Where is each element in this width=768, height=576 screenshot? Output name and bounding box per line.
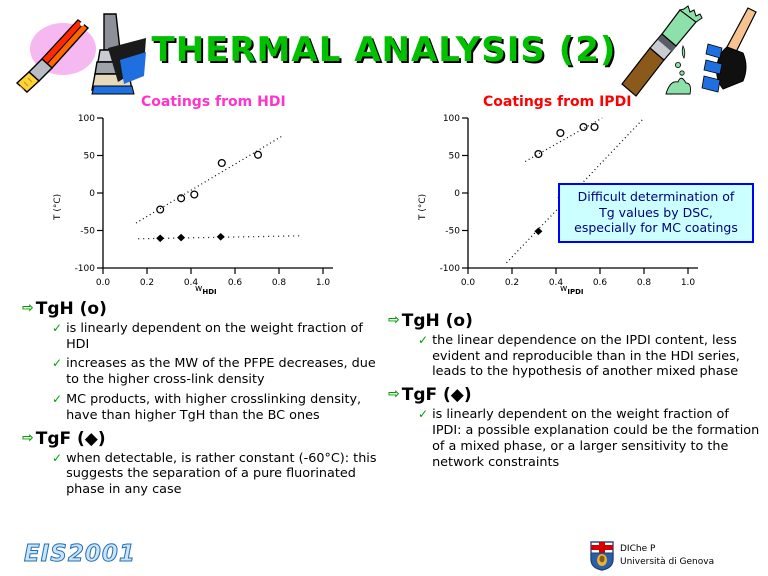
svg-text:50: 50 (449, 152, 461, 162)
check-icon: ✓ (52, 392, 62, 407)
svg-text:1.0: 1.0 (316, 278, 331, 288)
bullet-item: ✓ when detectable, is rather constant (-… (52, 451, 382, 499)
chart-ipdi-ylabel: T (°C) (418, 194, 428, 220)
bullet-heading-label: TgF (◆) (36, 430, 106, 449)
bullet-item-text: increases as the MW of the PFPE decrease… (66, 356, 382, 388)
paintbrushes-dripping-icon (620, 2, 768, 102)
check-icon: ✓ (52, 451, 62, 466)
svg-text:0.2: 0.2 (140, 278, 154, 288)
chart-hdi-xlabel-sub: HDI (202, 288, 216, 296)
institution-line-2: Università di Genova (620, 556, 714, 569)
svg-text:0.6: 0.6 (593, 278, 608, 288)
bullet-item: ✓ MC products, with higher crosslinking … (52, 392, 382, 424)
bullet-item-text: the linear dependence on the IPDI conten… (432, 333, 760, 381)
svg-text:0.0: 0.0 (461, 278, 476, 288)
bullet-heading-label: TgF (◆) (402, 386, 472, 405)
chart-hdi-ylabel: T (°C) (53, 194, 63, 220)
bullet-item-text: is linearly dependent on the weight frac… (66, 321, 382, 353)
university-crest-icon (589, 541, 615, 571)
bullet-item: ✓ increases as the MW of the PFPE decrea… (52, 356, 382, 388)
bullet-heading-tgf-left: ⇨ TgF (◆) (22, 430, 382, 449)
svg-text:100: 100 (78, 114, 95, 124)
bullet-item-text: when detectable, is rather constant (-60… (66, 451, 382, 499)
callout-box: Difficult determination of Tg values by … (558, 183, 754, 243)
chart-ipdi-xlabel: wIPDI (560, 284, 584, 296)
svg-text:0.8: 0.8 (272, 278, 287, 288)
svg-text:-100: -100 (440, 264, 461, 274)
callout-line-1: Difficult determination of (565, 189, 747, 205)
bullet-heading-label: TgH (o) (402, 312, 473, 331)
svg-text:-100: -100 (75, 264, 96, 274)
slide-canvas: THERMAL ANALYSIS (2) Coatings from HDI C… (0, 0, 768, 576)
bullet-item-text: MC products, with higher crosslinking de… (66, 392, 382, 424)
svg-text:0: 0 (454, 189, 460, 199)
svg-text:0: 0 (89, 189, 95, 199)
svg-text:1.0: 1.0 (681, 278, 696, 288)
bullet-item: ✓ the linear dependence on the IPDI cont… (418, 333, 760, 381)
bullet-column-left: ⇨ TgH (o) ✓ is linearly dependent on the… (22, 300, 382, 502)
conference-logo: EIS2001 (24, 541, 136, 567)
svg-text:0.0: 0.0 (96, 278, 111, 288)
chart-ipdi-xlabel-sub: IPDI (567, 288, 583, 296)
chart-hdi: 100 50 0 -50 -100 0.0 0.2 0.4 0.6 0.8 (55, 108, 355, 298)
callout-line-3: especially for MC coatings (565, 220, 747, 236)
arrow-icon: ⇨ (22, 430, 34, 448)
bullet-column-right: ⇨ TgH (o) ✓ the linear dependence on the… (388, 312, 760, 474)
chart-hdi-plot: 100 50 0 -50 -100 0.0 0.2 0.4 0.6 0.8 (55, 108, 355, 298)
svg-text:0.8: 0.8 (637, 278, 652, 288)
check-icon: ✓ (52, 321, 62, 336)
institution-line-1: DIChe P (620, 543, 714, 556)
arrow-icon: ⇨ (388, 312, 400, 330)
bullet-item: ✓ is linearly dependent on the weight fr… (418, 407, 760, 470)
arrow-icon: ⇨ (22, 300, 34, 318)
institution-credit: DIChe P Università di Genova (620, 543, 714, 569)
bullet-heading-tgf-right: ⇨ TgF (◆) (388, 386, 760, 405)
bullet-heading-tgh-left: ⇨ TgH (o) (22, 300, 382, 319)
check-icon: ✓ (52, 356, 62, 371)
bullet-heading-tgh-right: ⇨ TgH (o) (388, 312, 760, 331)
svg-text:0.6: 0.6 (228, 278, 243, 288)
arrow-icon: ⇨ (388, 386, 400, 404)
bullet-item-text: is linearly dependent on the weight frac… (432, 407, 760, 470)
check-icon: ✓ (418, 407, 428, 422)
svg-text:50: 50 (84, 152, 96, 162)
check-icon: ✓ (418, 333, 428, 348)
chart-hdi-xlabel: wHDI (195, 284, 217, 296)
callout-line-2: Tg values by DSC, (565, 205, 747, 221)
svg-text:100: 100 (443, 114, 460, 124)
svg-text:0.2: 0.2 (505, 278, 519, 288)
svg-text:-50: -50 (445, 227, 460, 237)
svg-text:-50: -50 (80, 227, 95, 237)
bullet-item: ✓ is linearly dependent on the weight fr… (52, 321, 382, 353)
bullet-heading-label: TgH (o) (36, 300, 107, 319)
